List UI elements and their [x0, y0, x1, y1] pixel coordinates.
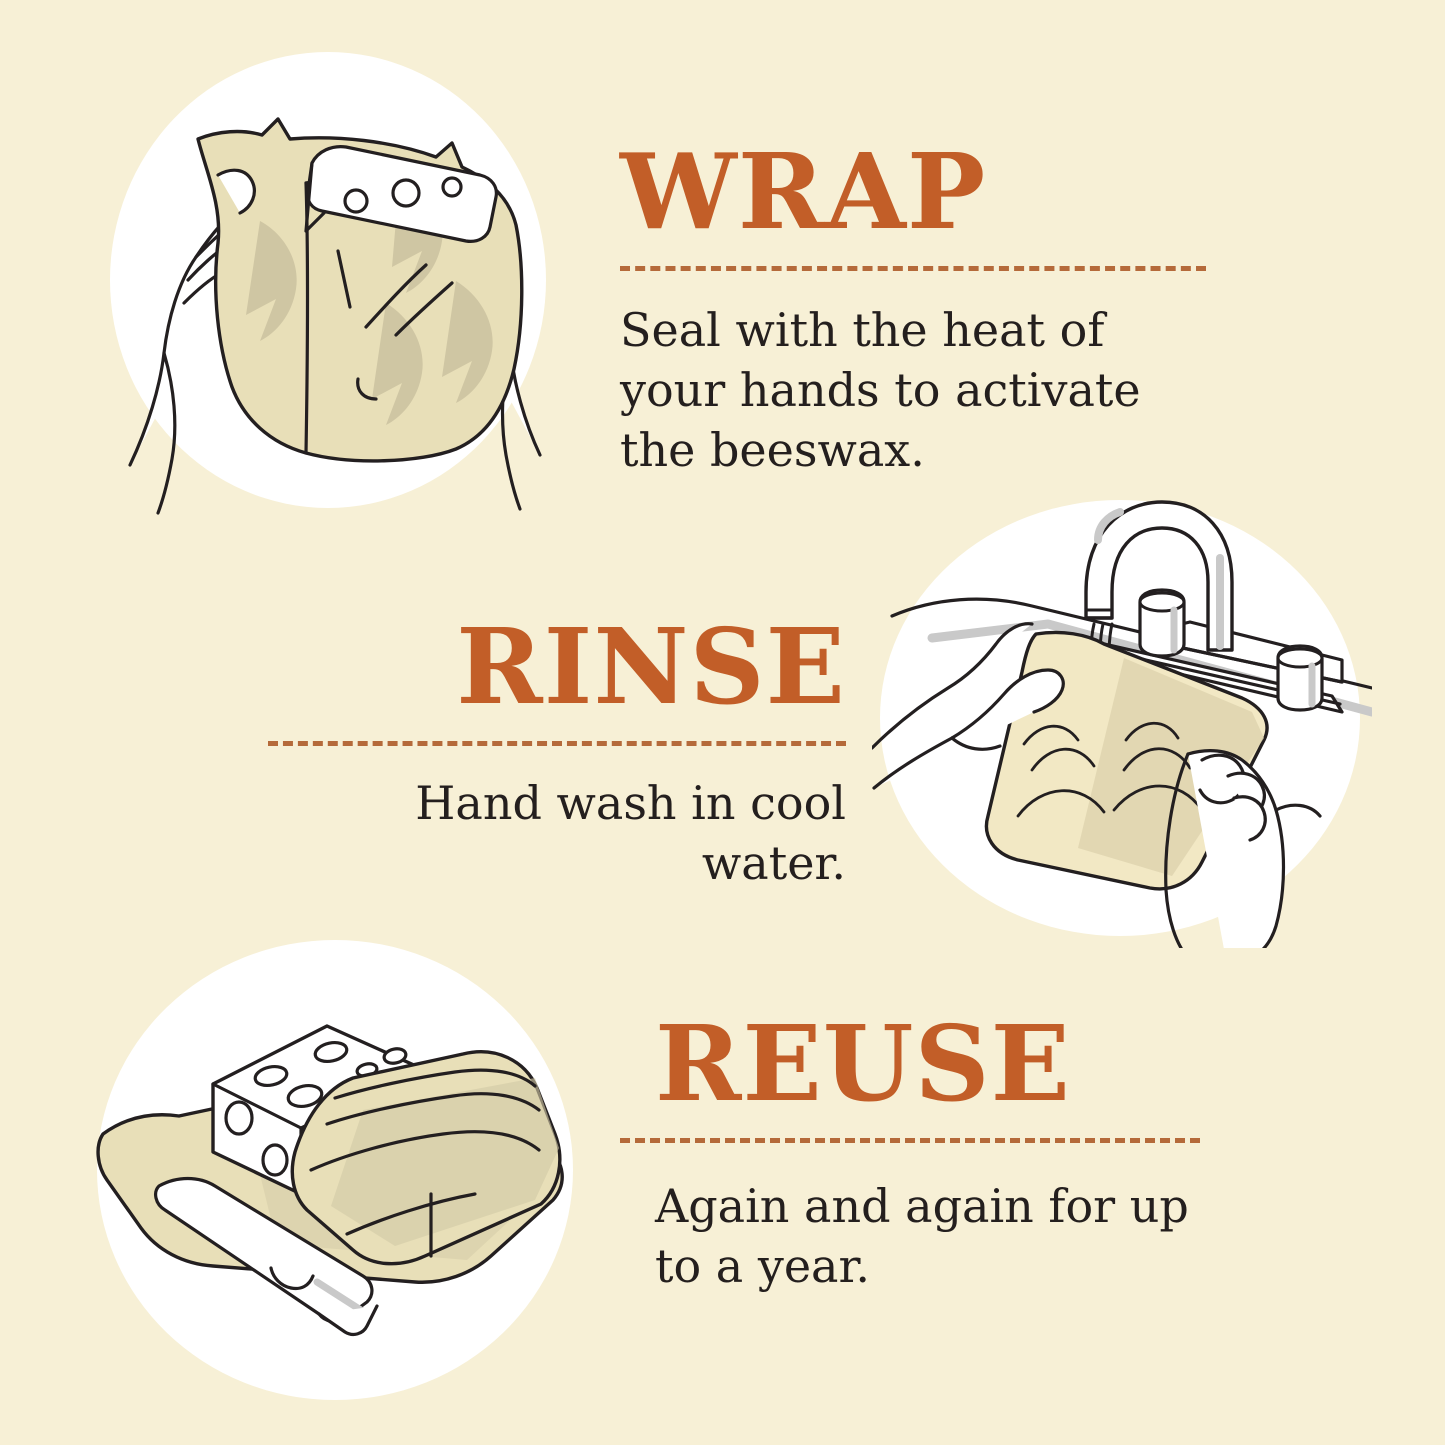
illustration-hands-washing-wrap: [872, 498, 1372, 948]
step-block-rinse: RINSE Hand wash in cool water.: [268, 615, 846, 894]
divider-dashed-rinse: [268, 741, 846, 746]
step-body-wrap: Seal with the heat of your hands to acti…: [620, 301, 1200, 480]
infographic-page: WRAP Seal with the heat of your hands to…: [0, 0, 1445, 1445]
illustration-wrapped-cheese-with-knife: [95, 938, 585, 1408]
divider-dashed-wrap: [620, 266, 1206, 271]
step-heading-wrap: WRAP: [620, 140, 1220, 244]
divider-dashed-reuse: [620, 1138, 1200, 1143]
illustration-hands-sealing-wrap: [100, 35, 570, 535]
step-block-wrap: WRAP Seal with the heat of your hands to…: [620, 140, 1220, 480]
step-body-reuse: Again and again for up to a year.: [655, 1177, 1235, 1297]
step-body-rinse: Hand wash in cool water.: [268, 774, 846, 894]
step-block-reuse: REUSE Again and again for up to a year.: [655, 1012, 1255, 1297]
step-heading-rinse: RINSE: [268, 615, 846, 719]
step-heading-reuse: REUSE: [655, 1012, 1255, 1116]
